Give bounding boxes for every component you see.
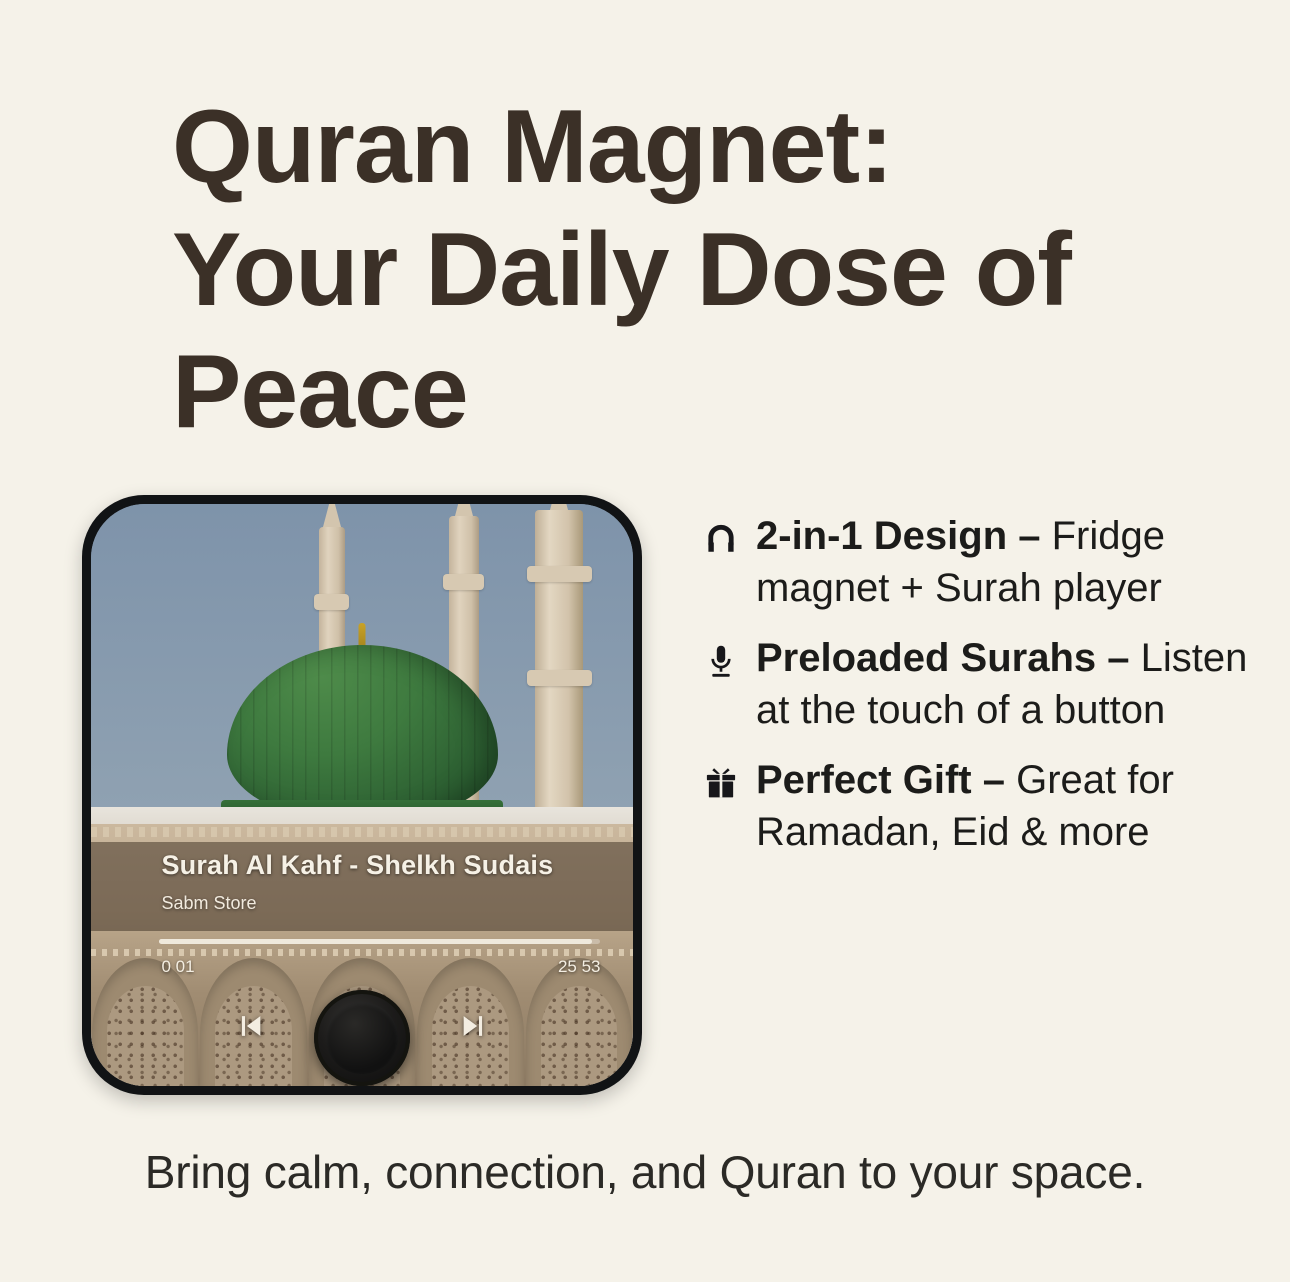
device-screen: Surah Al Kahf - Shelkh Sudais Sabm Store… [91,504,633,1086]
total-time: 25 53 [558,957,601,977]
product-device: Surah Al Kahf - Shelkh Sudais Sabm Store… [82,495,642,1095]
minaret-balcony [527,566,592,582]
feature-text: Preloaded Surahs – Listen at the touch o… [756,632,1258,736]
microphone-icon [698,638,744,684]
elapsed-time: 0 01 [161,957,194,977]
headline-line-3: Peace [172,331,1162,454]
minaret-balcony [443,574,484,590]
gift-icon [698,760,744,806]
feature-text: Perfect Gift – Great for Ramadan, Eid & … [756,754,1258,858]
feature-text: 2-in-1 Design – Fridge magnet + Surah pl… [756,510,1258,614]
minaret-spire [455,504,473,516]
feature-item: Perfect Gift – Great for Ramadan, Eid & … [698,754,1258,858]
feature-title: 2-in-1 Design – [756,514,1052,558]
player-overlay: Surah Al Kahf - Shelkh Sudais Sabm Store… [91,818,633,1086]
track-subtitle: Sabm Store [161,893,256,914]
feature-title: Perfect Gift – [756,758,1016,802]
minaret-balcony [314,594,349,610]
minaret-spire [550,504,568,510]
play-button[interactable] [314,990,410,1086]
feature-item: 2-in-1 Design – Fridge magnet + Surah pl… [698,510,1258,614]
headphones-icon [698,516,744,562]
minaret-spire [323,504,341,527]
progress-bar[interactable] [159,939,601,944]
headline-line-2: Your Daily Dose of [172,209,1162,332]
next-track-icon[interactable] [458,1009,492,1043]
track-title: Surah Al Kahf - Shelkh Sudais [161,850,600,881]
feature-list: 2-in-1 Design – Fridge magnet + Surah pl… [698,510,1258,876]
page-title: Quran Magnet: Your Daily Dose of Peace [172,86,1162,454]
dome-shell [227,645,498,822]
feature-title: Preloaded Surahs – [756,636,1141,680]
headline-line-1: Quran Magnet: [172,86,1162,209]
minaret-balcony [527,670,592,686]
tagline: Bring calm, connection, and Quran to you… [0,1145,1290,1199]
feature-item: Preloaded Surahs – Listen at the touch o… [698,632,1258,736]
player-controls [91,990,633,1086]
previous-track-icon[interactable] [232,1009,266,1043]
progress-fill [159,939,592,944]
product-infographic: Quran Magnet: Your Daily Dose of Peace [0,0,1290,1282]
